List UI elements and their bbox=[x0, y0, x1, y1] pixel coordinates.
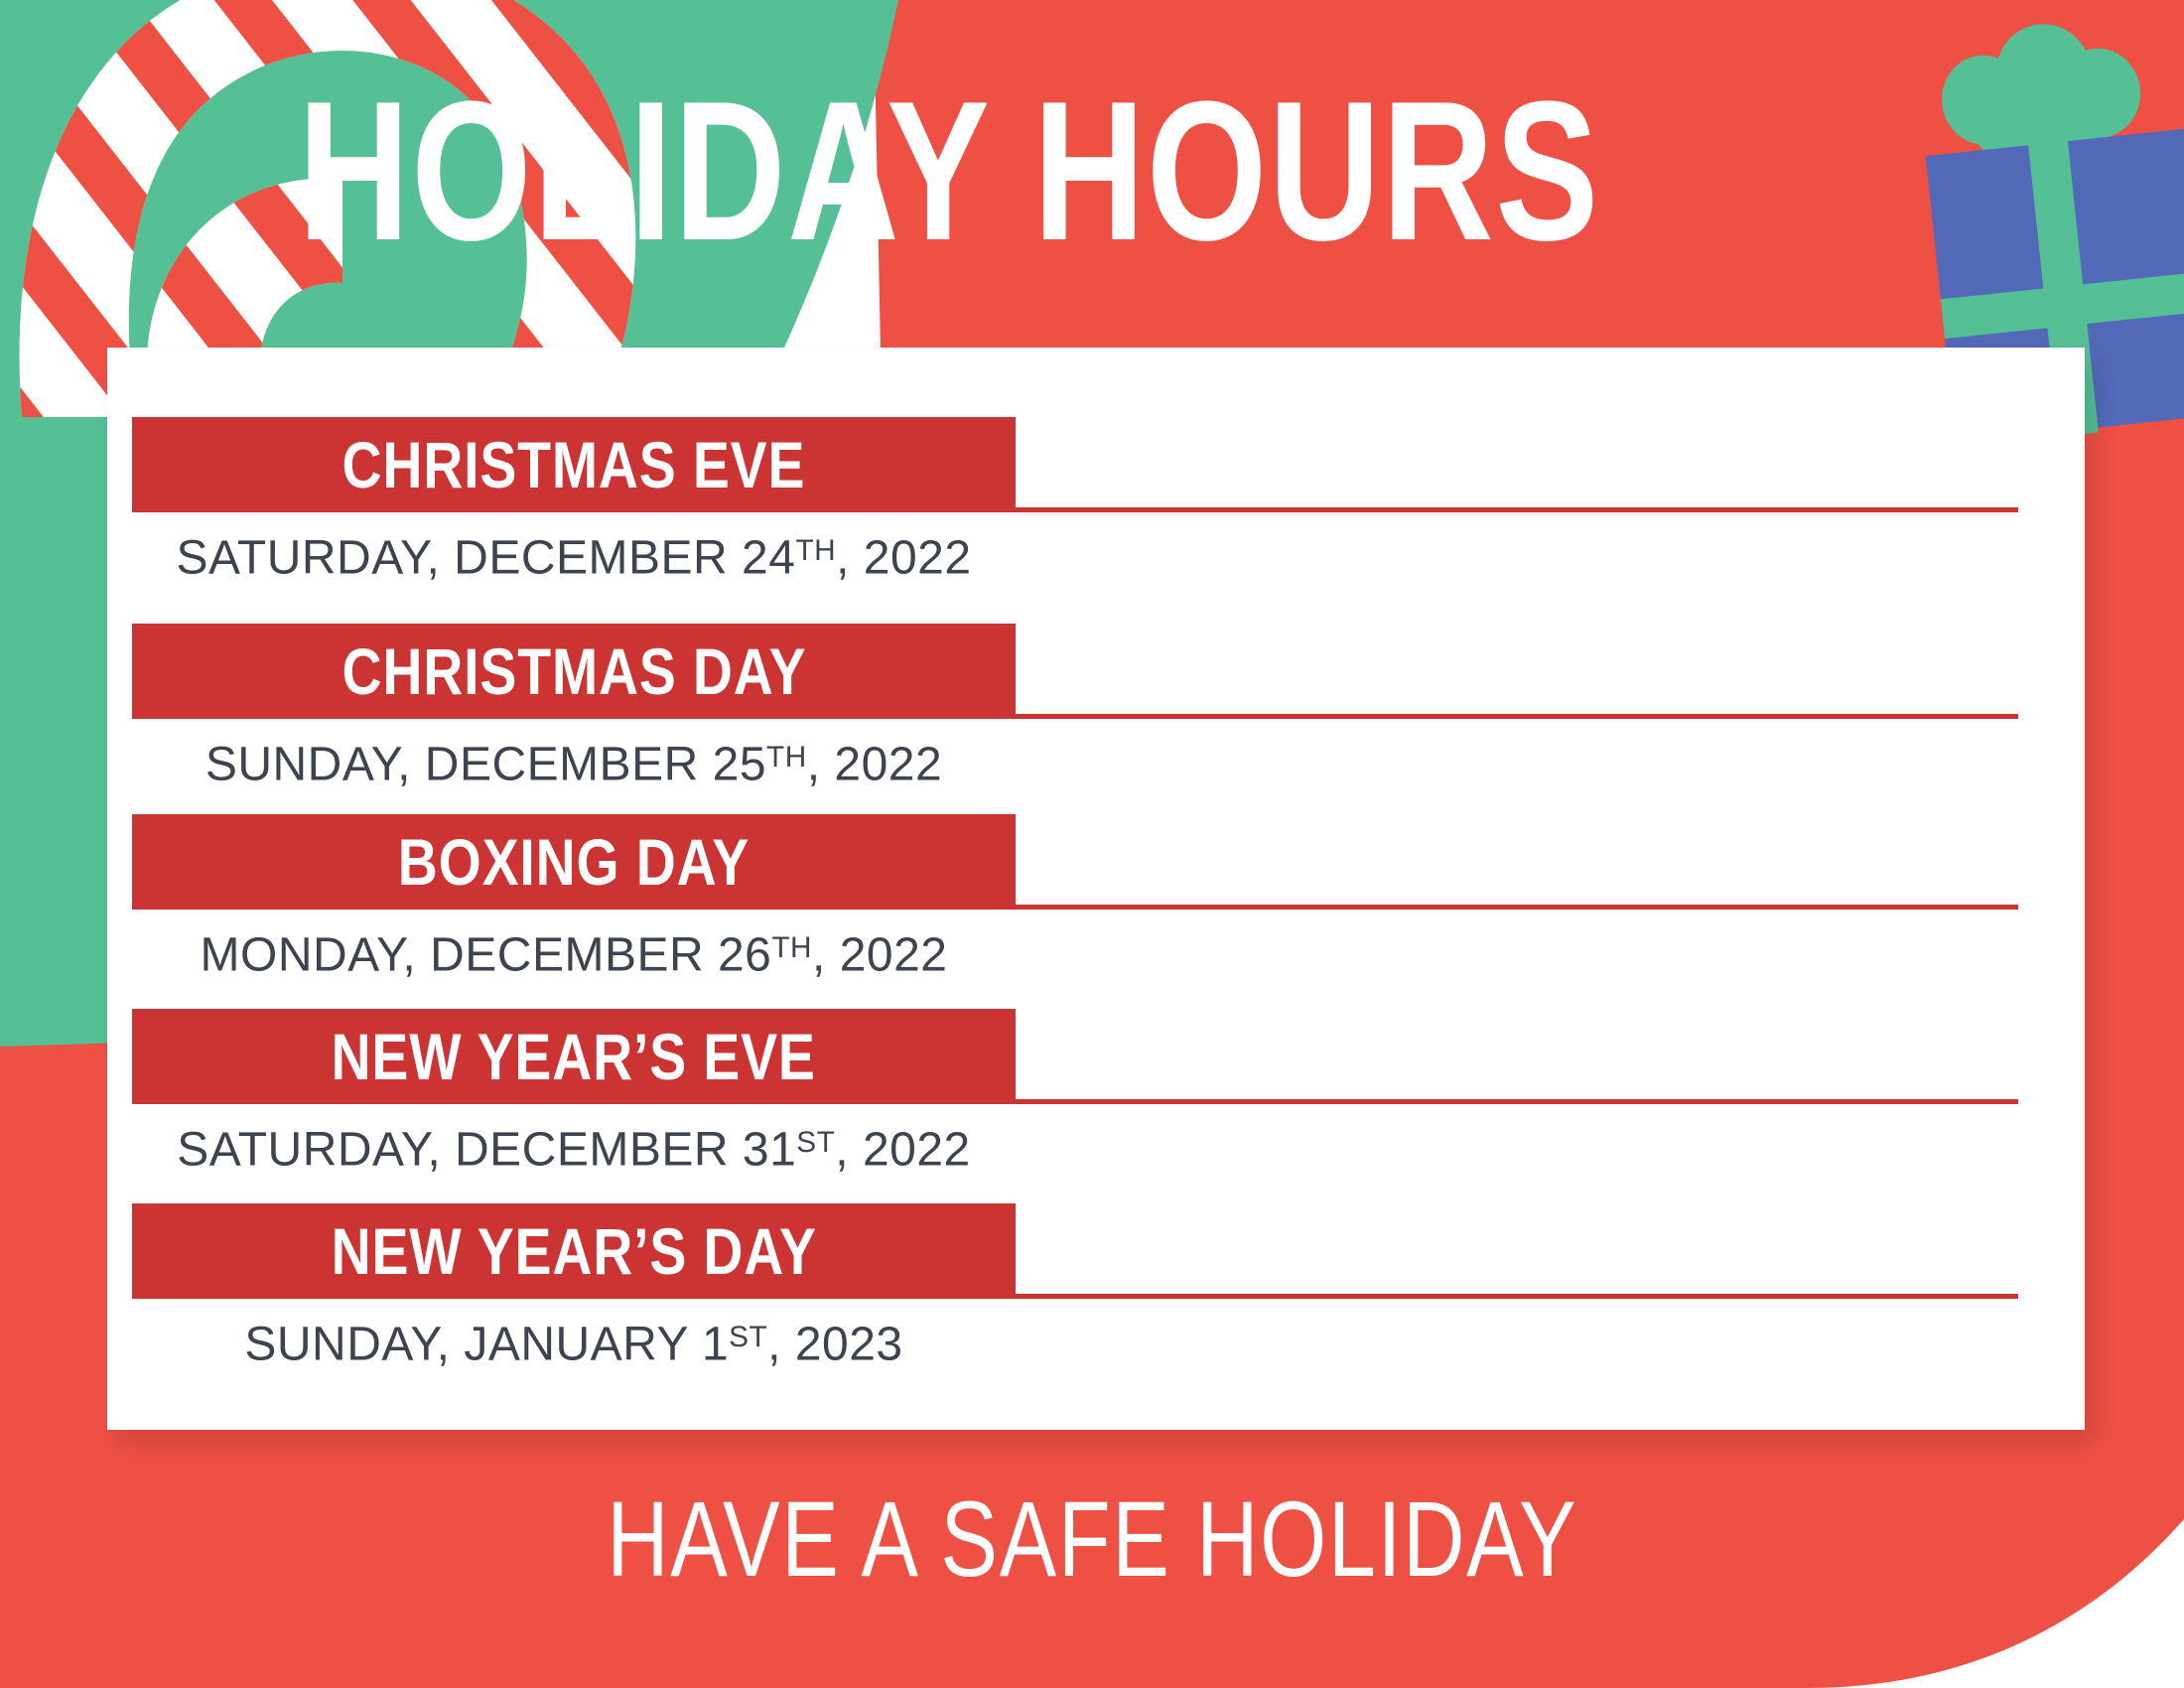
holiday-hours-poster: HOLIDAY HOURS CHRISTMAS EVE SATURDAY, DE… bbox=[0, 0, 2184, 1688]
holiday-name: NEW YEAR’S EVE bbox=[332, 1009, 816, 1104]
hours-write-in-line[interactable] bbox=[1016, 507, 2018, 512]
holiday-date: MONDAY, DECEMBER 26TH, 2022 bbox=[132, 914, 1016, 990]
date-tail: , 2022 bbox=[812, 928, 947, 981]
date-ordinal-suffix: TH bbox=[766, 741, 807, 774]
date-ordinal-suffix: ST bbox=[729, 1321, 767, 1353]
holiday-name-bar: CHRISTMAS DAY bbox=[132, 624, 1016, 719]
footer-message: HAVE A SAFE HOLIDAY bbox=[0, 1479, 2184, 1599]
holiday-name-bar: BOXING DAY bbox=[132, 814, 1016, 910]
hours-write-in-line[interactable] bbox=[1016, 714, 2018, 719]
holiday-date: SUNDAY, JANUARY 1ST, 2023 bbox=[132, 1303, 1016, 1379]
date-tail: , 2022 bbox=[807, 738, 942, 790]
holiday-name: BOXING DAY bbox=[398, 814, 750, 910]
holiday-name: CHRISTMAS DAY bbox=[341, 624, 806, 719]
date-prefix: MONDAY, DECEMBER 26 bbox=[201, 928, 772, 981]
holiday-date: SUNDAY, DECEMBER 25TH, 2022 bbox=[132, 723, 1016, 799]
holiday-date: SATURDAY, DECEMBER 24TH, 2022 bbox=[132, 516, 1016, 593]
holiday-name-bar: NEW YEAR’S EVE bbox=[132, 1009, 1016, 1104]
holiday-hours-card: CHRISTMAS EVE SATURDAY, DECEMBER 24TH, 2… bbox=[107, 348, 2085, 1430]
date-prefix: SATURDAY, DECEMBER 31 bbox=[177, 1123, 796, 1176]
hours-write-in-line[interactable] bbox=[1016, 905, 2018, 910]
date-prefix: SATURDAY, DECEMBER 24 bbox=[176, 531, 795, 584]
date-tail: , 2022 bbox=[835, 1123, 970, 1176]
page-title: HOLIDAY HOURS bbox=[298, 77, 1537, 266]
date-ordinal-suffix: TH bbox=[771, 931, 812, 964]
footer-message-text: HAVE A SAFE HOLIDAY bbox=[607, 1479, 1577, 1599]
date-prefix: SUNDAY, JANUARY 1 bbox=[244, 1318, 729, 1370]
holiday-date: SATURDAY, DECEMBER 31ST, 2022 bbox=[132, 1108, 1016, 1185]
holiday-name-bar: CHRISTMAS EVE bbox=[132, 417, 1016, 512]
date-ordinal-suffix: TH bbox=[795, 534, 836, 567]
hours-write-in-line[interactable] bbox=[1016, 1099, 2018, 1104]
date-tail: , 2022 bbox=[836, 531, 971, 584]
holiday-name-bar: NEW YEAR’S DAY bbox=[132, 1203, 1016, 1299]
date-prefix: SUNDAY, DECEMBER 25 bbox=[205, 738, 766, 790]
date-tail: , 2023 bbox=[767, 1318, 902, 1370]
date-ordinal-suffix: ST bbox=[796, 1126, 835, 1159]
holiday-name: NEW YEAR’S DAY bbox=[331, 1203, 816, 1299]
holiday-name: CHRISTMAS EVE bbox=[342, 417, 806, 512]
hours-write-in-line[interactable] bbox=[1016, 1294, 2018, 1299]
